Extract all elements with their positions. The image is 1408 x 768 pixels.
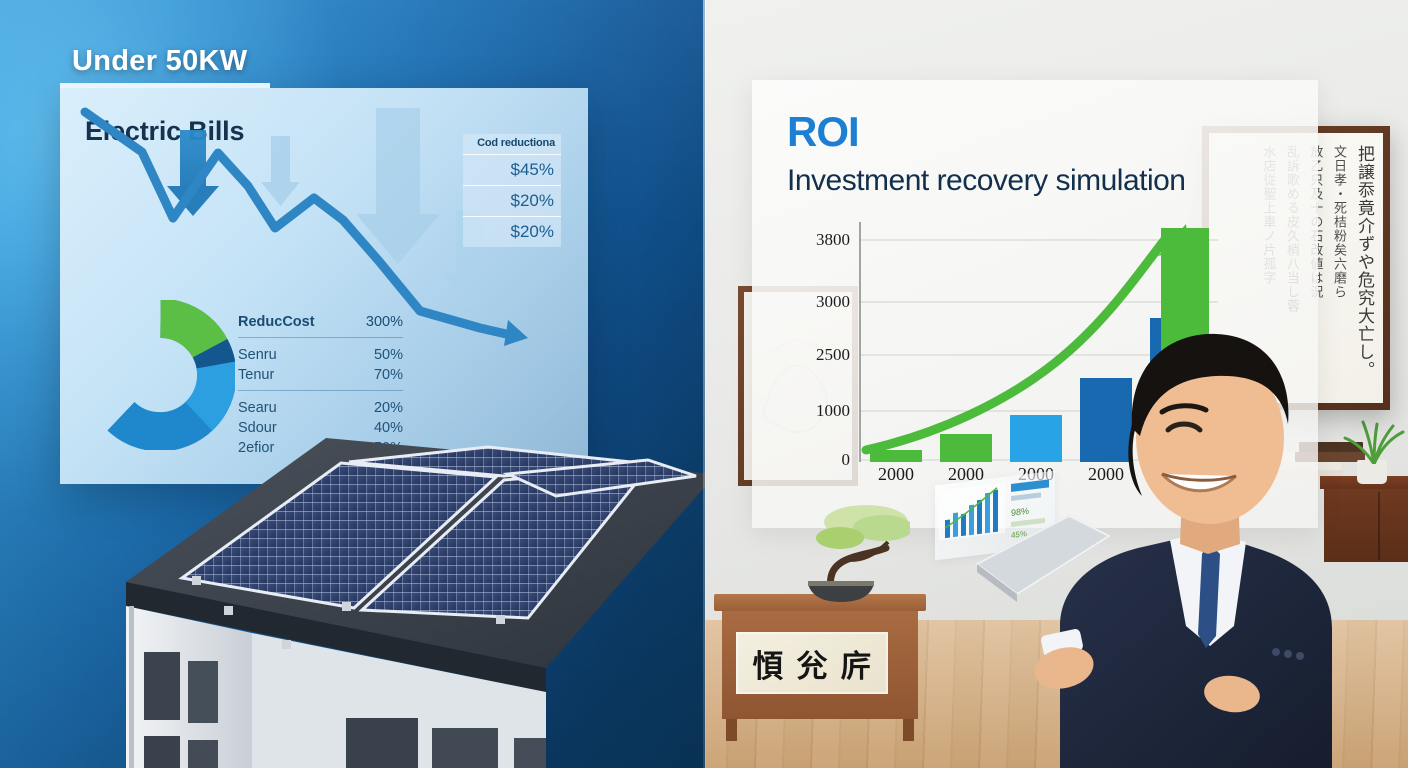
bar-2 bbox=[940, 434, 992, 462]
plaque-char: 兊 bbox=[797, 641, 828, 686]
down-arrow-3 bbox=[356, 108, 440, 264]
table-row: $20% bbox=[463, 216, 561, 247]
window bbox=[346, 718, 418, 768]
legend-divider bbox=[238, 390, 403, 391]
cost-reduction-table: Cod reductiona $45% $20% $20% bbox=[463, 134, 561, 247]
window bbox=[144, 736, 180, 768]
legend-label: Searu bbox=[238, 400, 277, 416]
table-row: $45% bbox=[463, 154, 561, 185]
bonsai-soil bbox=[808, 581, 874, 586]
bonsai-pot bbox=[808, 584, 874, 602]
trend-line-arrowhead bbox=[504, 320, 528, 346]
console-leg bbox=[726, 719, 737, 741]
window bbox=[144, 652, 180, 720]
legend-label: Tenur bbox=[238, 367, 274, 383]
legend-value: 70% bbox=[374, 367, 403, 383]
window bbox=[514, 738, 546, 768]
bonsai-tree bbox=[770, 498, 910, 606]
legend-row: Senru 50% bbox=[238, 345, 403, 365]
tablet-device[interactable] bbox=[973, 512, 1113, 622]
legend-row-head: ReducCost 300% bbox=[238, 312, 403, 332]
house-with-solar-panels bbox=[96, 430, 705, 768]
down-arrow-2 bbox=[261, 136, 300, 206]
legend-label: Senru bbox=[238, 347, 277, 363]
cost-breakdown-donut bbox=[85, 300, 235, 450]
downspout bbox=[129, 606, 134, 768]
window bbox=[188, 661, 218, 723]
panel-divider bbox=[703, 0, 706, 768]
roi-subtitle: Investment recovery simulation bbox=[787, 164, 1186, 198]
table-row: $20% bbox=[463, 185, 561, 216]
badge-title: Under 50KW bbox=[72, 45, 247, 78]
window bbox=[188, 740, 218, 768]
legend-row: Searu 20% bbox=[238, 398, 403, 418]
legend-divider bbox=[238, 337, 403, 338]
screenshot-root: Under 50KW Electric Bills bbox=[0, 0, 1408, 768]
console-table: 㥧 兊 庍 bbox=[714, 594, 926, 742]
window bbox=[432, 728, 498, 768]
plaque-char: 㥧 bbox=[753, 641, 784, 686]
console-leg bbox=[903, 719, 914, 741]
legend-row: Tenur 70% bbox=[238, 365, 403, 385]
legend-value: 20% bbox=[374, 400, 403, 416]
roi-title: ROI bbox=[787, 112, 859, 152]
left-panel-solar: Under 50KW Electric Bills bbox=[0, 0, 705, 768]
right-panel-office: 把譲忝竟介ずや危究大亡し。 文日孝・死桔粉矣六磨ら 放乙只及十の石改値は況 乱訴… bbox=[705, 0, 1408, 768]
suit-button bbox=[1272, 648, 1280, 656]
kanji-plaque: 㥧 兊 庍 bbox=[736, 632, 888, 694]
legend-value: 300% bbox=[366, 314, 403, 330]
plaque-char: 庍 bbox=[841, 641, 872, 686]
x-tick-label: 2000 bbox=[878, 464, 914, 485]
down-arrow-1 bbox=[167, 130, 219, 216]
bonsai-foliage bbox=[816, 527, 864, 549]
legend-value: 50% bbox=[374, 347, 403, 363]
table-header: Cod reductiona bbox=[463, 134, 561, 154]
suit-button bbox=[1296, 652, 1304, 660]
legend-label: ReducCost bbox=[238, 314, 315, 330]
suit-button bbox=[1284, 650, 1292, 658]
